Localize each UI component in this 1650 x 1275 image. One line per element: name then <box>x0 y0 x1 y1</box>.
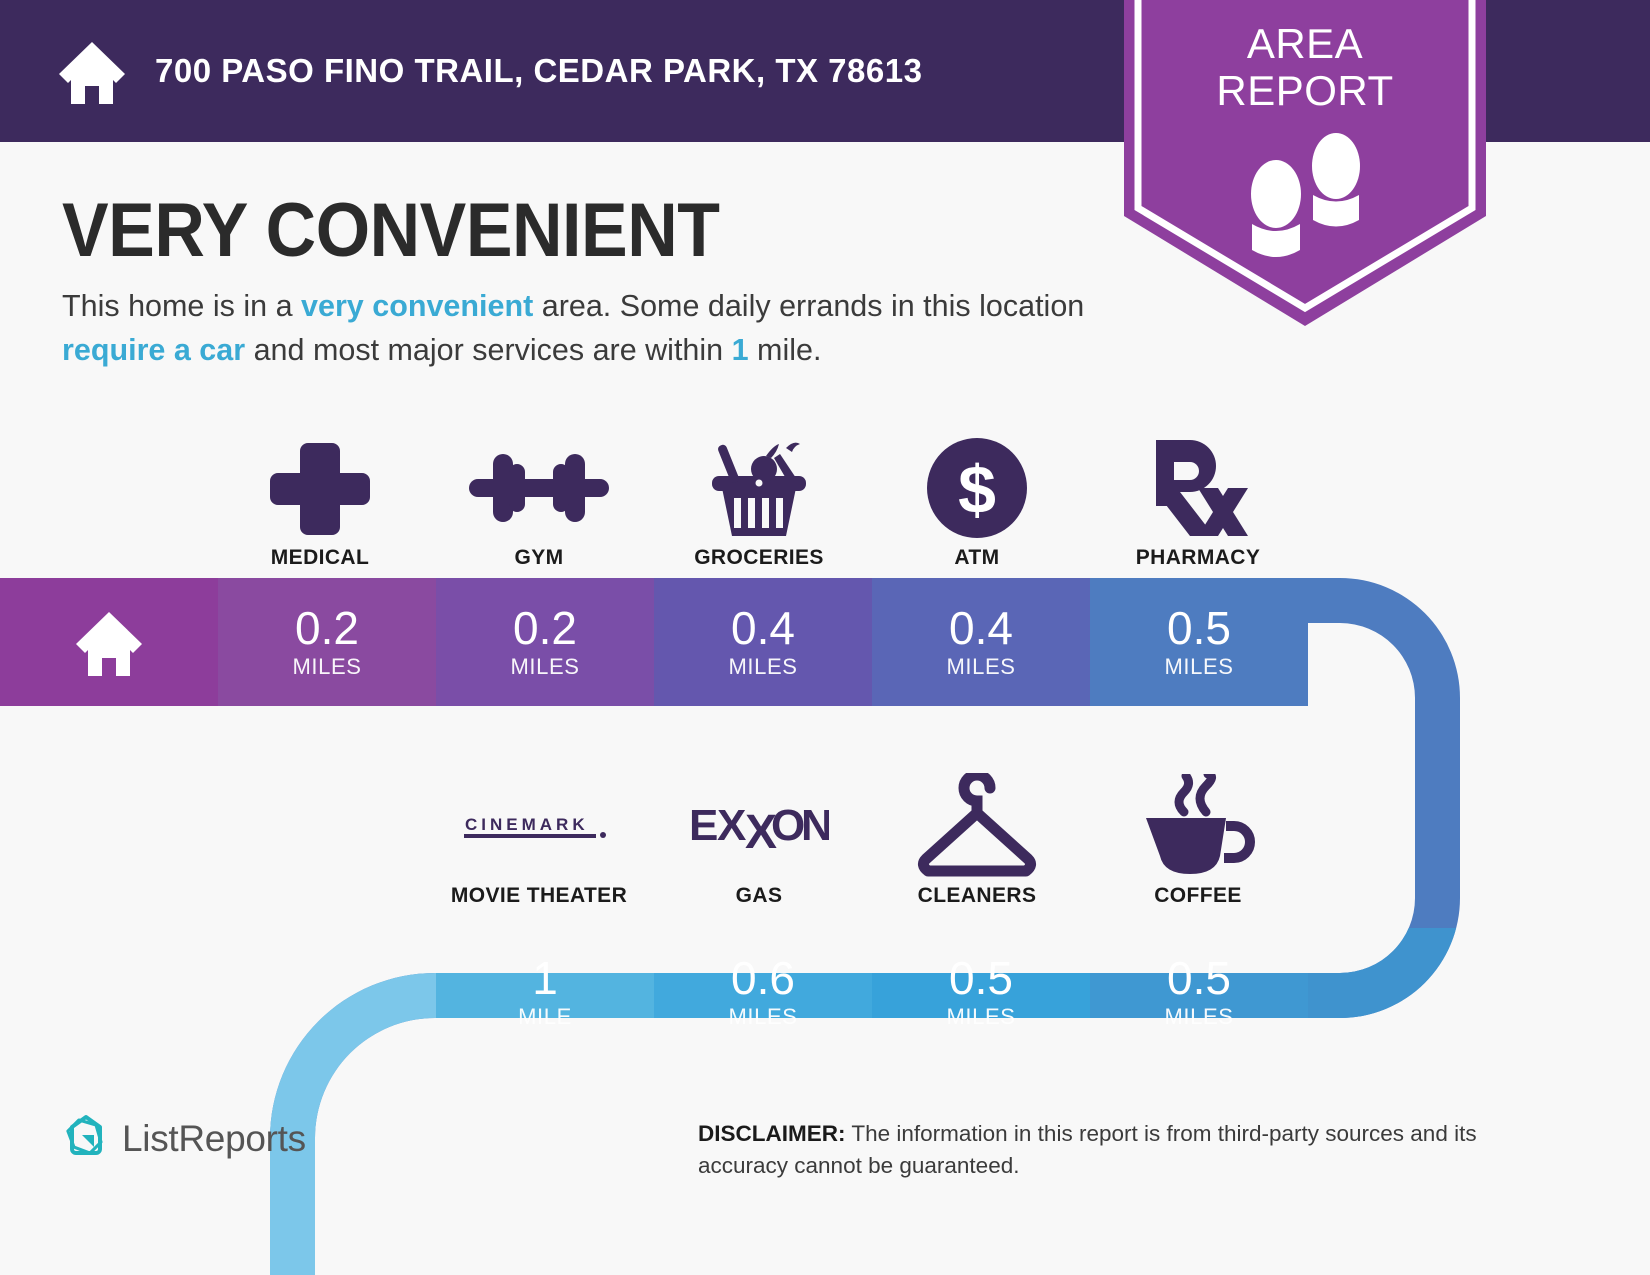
service-label-gym: GYM <box>514 546 563 570</box>
bar-unit-pharmacy: MILES <box>1164 655 1233 679</box>
summary-highlight-2: require a car <box>62 333 245 367</box>
bar-segment-groceries: 0.4 MILES <box>654 578 872 706</box>
grocery-basket-icon <box>704 434 814 542</box>
service-icon-cell-medical: MEDICAL <box>211 420 429 570</box>
disclaimer-label: DISCLAIMER: <box>698 1121 846 1146</box>
page-title: VERY CONVENIENT <box>62 190 719 272</box>
listreports-wordmark: ListReports <box>122 1118 306 1160</box>
bar-unit-coffee: MILES <box>1164 1005 1233 1029</box>
bar-segment-cleaners: 0.5 MILES <box>872 928 1090 1056</box>
badge-line-1: AREA <box>1124 20 1486 67</box>
listreports-house-icon <box>62 1113 108 1164</box>
bar-unit-atm: MILES <box>946 655 1015 679</box>
bar-value-medical: 0.2 <box>295 605 359 651</box>
service-label-pharmacy: PHARMACY <box>1136 546 1261 570</box>
pharmacy-rx-icon <box>1144 434 1252 542</box>
summary-part-4: mile. <box>749 333 822 367</box>
bar-unit-medical: MILES <box>292 655 361 679</box>
bar-start-home-icon <box>0 578 218 706</box>
area-report-infographic: 700 PASO FINO TRAIL, CEDAR PARK, TX 7861… <box>0 0 1650 1275</box>
service-label-atm: ATM <box>954 546 999 570</box>
bar-unit-gym: MILES <box>510 655 579 679</box>
summary-highlight-3: 1 <box>732 333 749 367</box>
medical-cross-icon <box>270 434 370 542</box>
bar-unit-gas: MILES <box>728 1005 797 1029</box>
service-icon-cell-groceries: GROCERIES <box>650 420 868 570</box>
bar-value-pharmacy: 0.5 <box>1167 605 1231 651</box>
home-icon <box>55 34 129 108</box>
dumbbell-icon <box>469 434 609 542</box>
service-icon-cell-pharmacy: PHARMACY <box>1089 420 1307 570</box>
disclaimer: DISCLAIMER: The information in this repo… <box>698 1118 1518 1182</box>
bar-value-gym: 0.2 <box>513 605 577 651</box>
bar-segment-movie-theater: 1 MILE <box>436 928 654 1056</box>
atm-dollar-icon: $ <box>925 434 1029 542</box>
bar-unit-cleaners: MILES <box>946 1005 1015 1029</box>
summary-part-2: area. Some daily errands in this locatio… <box>533 289 1084 323</box>
header-content: 700 PASO FINO TRAIL, CEDAR PARK, TX 7861… <box>55 0 922 142</box>
summary-part-3: and most major services are within <box>245 333 731 367</box>
bar-value-groceries: 0.4 <box>731 605 795 651</box>
bar-value-coffee: 0.5 <box>1167 955 1231 1001</box>
bar-segment-gas: 0.6 MILES <box>654 928 872 1056</box>
bar-segment-pharmacy: 0.5 MILES <box>1090 578 1308 706</box>
bar-segment-atm: 0.4 MILES <box>872 578 1090 706</box>
badge-line-2: REPORT <box>1124 67 1486 114</box>
service-icon-cell-gym: GYM <box>430 420 648 570</box>
bar-value-cleaners: 0.5 <box>949 955 1013 1001</box>
summary-text: This home is in a very convenient area. … <box>62 284 1122 372</box>
bar-segment-coffee: 0.5 MILES <box>1090 928 1308 1056</box>
svg-text:$: $ <box>958 452 996 528</box>
service-icon-cell-atm: $ ATM <box>868 420 1086 570</box>
bar-value-atm: 0.4 <box>949 605 1013 651</box>
service-label-medical: MEDICAL <box>271 546 369 570</box>
bar-unit-movie-theater: MILE <box>518 1005 572 1029</box>
bar-segment-gym: 0.2 MILES <box>436 578 654 706</box>
service-label-groceries: GROCERIES <box>694 546 824 570</box>
summary-highlight-1: very convenient <box>301 289 533 323</box>
summary-part-1: This home is in a <box>62 289 301 323</box>
badge-title: AREA REPORT <box>1124 20 1486 114</box>
listreports-logo: ListReports <box>62 1113 306 1164</box>
bar-value-gas: 0.6 <box>731 955 795 1001</box>
bar-segment-medical: 0.2 MILES <box>218 578 436 706</box>
bar-value-movie-theater: 1 <box>532 955 558 1001</box>
services-icon-row-1: MEDICAL GYM <box>0 420 1650 570</box>
property-address: 700 PASO FINO TRAIL, CEDAR PARK, TX 7861… <box>155 52 922 90</box>
area-report-badge: AREA REPORT <box>1124 0 1486 336</box>
bar-unit-groceries: MILES <box>728 655 797 679</box>
